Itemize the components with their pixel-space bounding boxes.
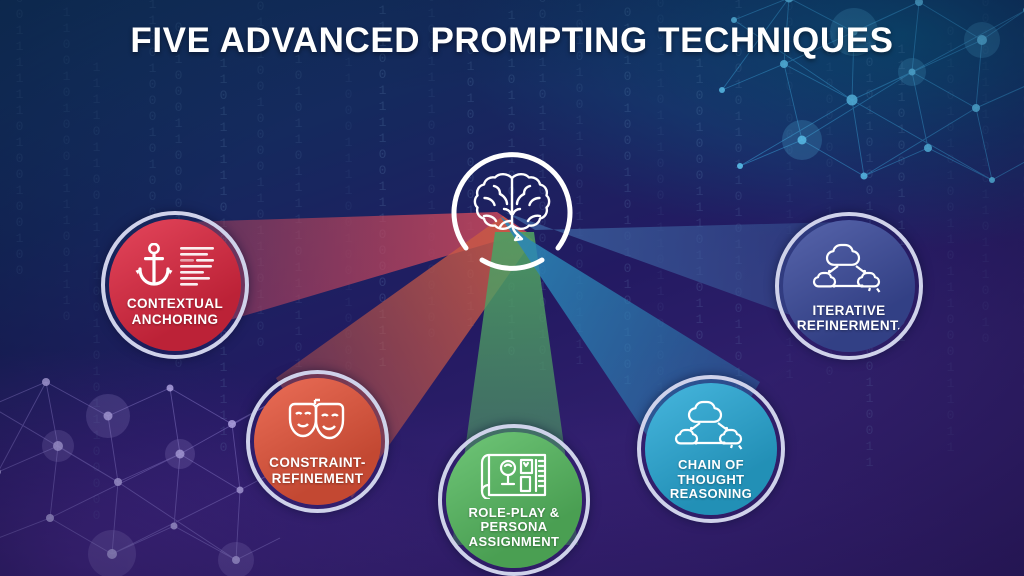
brain-icon bbox=[470, 164, 554, 248]
node-chain-of-thought-reasoning[interactable]: CHAIN OF THOUGHT REASONING bbox=[637, 375, 785, 523]
node-label: ITERATIVE REFINERMENT. bbox=[797, 303, 902, 333]
anchor-document-icon bbox=[132, 243, 218, 289]
node-iterative-refinerment[interactable]: ITERATIVE REFINERMENT. bbox=[775, 212, 923, 360]
node-label: CONTEXTUAL ANCHORING bbox=[127, 296, 223, 326]
infographic-canvas: 0011111101001001001100101000111100111011… bbox=[0, 0, 1024, 576]
page-title: FIVE ADVANCED PROMPTING TECHNIQUES bbox=[0, 21, 1024, 61]
theater-masks-icon bbox=[286, 397, 350, 447]
blueprint-plans-icon bbox=[477, 451, 551, 499]
thought-cloud-network-icon bbox=[810, 239, 888, 295]
node-contextual-anchoring[interactable]: CONTEXTUAL ANCHORING bbox=[101, 211, 249, 359]
node-label: CHAIN OF THOUGHT REASONING bbox=[645, 458, 777, 502]
node-ring bbox=[438, 424, 590, 576]
node-label: CONSTRAINT- REFINEMENT bbox=[269, 455, 366, 485]
node-role-play-persona-assignment[interactable]: ROLE-PLAY & PERSONA ASSIGNMENT bbox=[438, 424, 590, 576]
center-node-brain[interactable] bbox=[446, 142, 578, 274]
node-constraint-refinement[interactable]: CONSTRAINT- REFINEMENT bbox=[246, 370, 389, 513]
thought-cloud-network-icon bbox=[672, 396, 750, 452]
node-label: ROLE-PLAY & PERSONA ASSIGNMENT bbox=[468, 506, 559, 550]
